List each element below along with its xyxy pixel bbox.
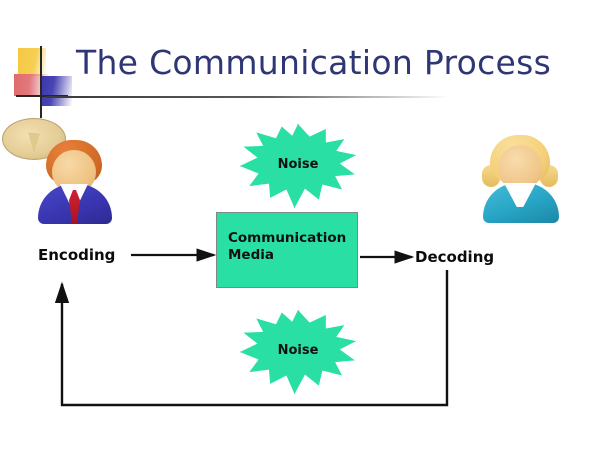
- logo-vertical-rule: [40, 46, 42, 118]
- communication-media-label: Communication Media: [228, 230, 352, 264]
- page-title: The Communication Process: [76, 43, 551, 82]
- decoding-label: Decoding: [415, 248, 494, 266]
- speech-bubble-tail: [26, 132, 40, 153]
- noise-burst-top: Noise: [240, 124, 356, 208]
- noise-burst-bottom: Noise: [240, 310, 356, 394]
- logo-blue-square: [40, 76, 72, 106]
- communication-media-box: Communication Media: [216, 212, 358, 288]
- encoding-label: Encoding: [38, 246, 115, 264]
- noise-bottom-label: Noise: [240, 343, 356, 358]
- noise-top-label: Noise: [240, 157, 356, 172]
- title-underline-rule: [45, 96, 450, 98]
- slide-canvas: The Communication Process Noise Communic…: [0, 0, 600, 450]
- receiver-person: [476, 135, 566, 220]
- sender-person: [30, 140, 120, 220]
- decorative-logo-mark: [14, 46, 76, 108]
